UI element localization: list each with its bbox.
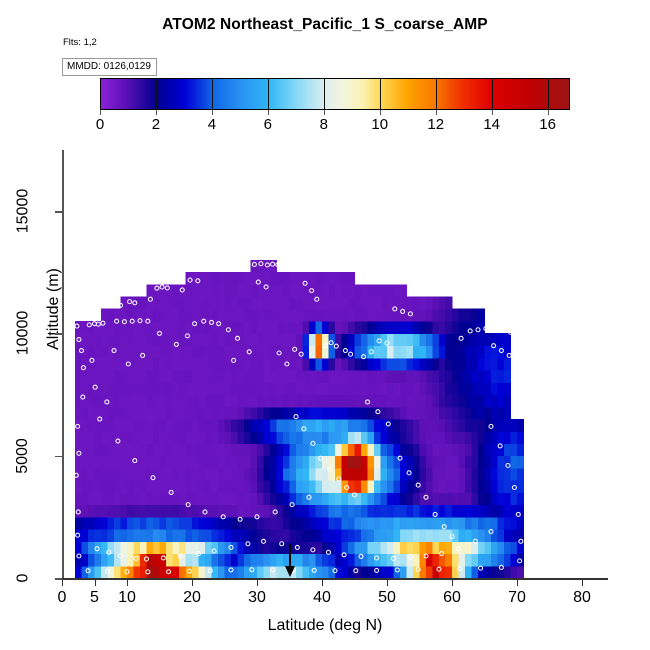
y-axis-tick xyxy=(55,211,62,213)
x-axis-tick xyxy=(62,579,63,586)
x-axis-tick xyxy=(95,579,96,586)
colorbar-gradient xyxy=(100,78,570,110)
y-axis-tick xyxy=(55,578,62,580)
colorbar-tick xyxy=(212,110,213,115)
y-axis-tick xyxy=(55,456,62,458)
colorbar: 0246810121416 xyxy=(100,78,570,110)
down-arrow-marker xyxy=(283,544,297,583)
colorbar-tick xyxy=(100,110,101,115)
colorbar-tick-label: 0 xyxy=(96,116,104,133)
colorbar-tick-label: 14 xyxy=(483,116,500,133)
x-axis-tick xyxy=(257,579,258,586)
y-axis-tick-label: 5000 xyxy=(0,442,46,470)
colorbar-tick xyxy=(380,110,381,115)
y-axis-tick-label: 0 xyxy=(0,564,46,592)
x-axis-tick-label: 5 xyxy=(90,589,99,607)
colorbar-tick-label: 8 xyxy=(320,116,328,133)
x-axis-title: Latitude (deg N) xyxy=(0,617,650,635)
flights-label: Flts: 1,2 xyxy=(63,37,97,48)
x-axis-tick xyxy=(322,579,323,586)
colorbar-tick xyxy=(268,110,269,115)
colorbar-tick-label: 2 xyxy=(152,116,160,133)
colorbar-separator xyxy=(324,78,325,110)
colorbar-tick xyxy=(548,110,549,115)
page-title: ATOM2 Northeast_Pacific_1 S_coarse_AMP xyxy=(0,16,650,34)
chart-root: ATOM2 Northeast_Pacific_1 S_coarse_AMP F… xyxy=(0,0,650,650)
colorbar-tick-label: 4 xyxy=(208,116,216,133)
y-axis-tick-label: 15000 xyxy=(0,197,46,225)
colorbar-separator xyxy=(212,78,213,110)
x-axis-tick-label: 70 xyxy=(508,589,526,607)
heatmap-plot xyxy=(62,150,608,578)
colorbar-separator xyxy=(548,78,549,110)
x-axis-tick-label: 60 xyxy=(443,589,461,607)
colorbar-tick xyxy=(436,110,437,115)
x-axis-tick-label: 30 xyxy=(248,589,266,607)
x-axis-tick xyxy=(517,579,518,586)
heatmap-canvas xyxy=(62,150,608,578)
colorbar-separator xyxy=(492,78,493,110)
x-axis-tick xyxy=(127,579,128,586)
x-axis-tick-label: 40 xyxy=(313,589,331,607)
colorbar-tick xyxy=(156,110,157,115)
x-axis-tick-label: 50 xyxy=(378,589,396,607)
y-axis-title: Altitude (m) xyxy=(45,249,63,369)
x-axis-tick-label: 0 xyxy=(58,589,67,607)
colorbar-separator xyxy=(156,78,157,110)
x-axis-tick xyxy=(452,579,453,586)
y-axis-tick-label: 10000 xyxy=(0,319,46,347)
x-axis-tick-label: 20 xyxy=(183,589,201,607)
x-axis-tick-label: 10 xyxy=(118,589,136,607)
colorbar-separator xyxy=(380,78,381,110)
colorbar-tick-label: 10 xyxy=(371,116,388,133)
colorbar-tick-label: 16 xyxy=(539,116,556,133)
x-axis-tick xyxy=(582,579,583,586)
x-axis-tick xyxy=(387,579,388,586)
x-axis-tick-label: 80 xyxy=(573,589,591,607)
colorbar-tick xyxy=(324,110,325,115)
colorbar-tick-label: 6 xyxy=(264,116,272,133)
x-axis-tick xyxy=(192,579,193,586)
x-axis-line xyxy=(62,578,608,580)
colorbar-separator xyxy=(436,78,437,110)
colorbar-separator xyxy=(268,78,269,110)
colorbar-tick xyxy=(492,110,493,115)
y-axis-tick xyxy=(55,333,62,335)
colorbar-tick-label: 12 xyxy=(427,116,444,133)
mmdd-badge: MMDD: 0126,0129 xyxy=(62,58,157,76)
